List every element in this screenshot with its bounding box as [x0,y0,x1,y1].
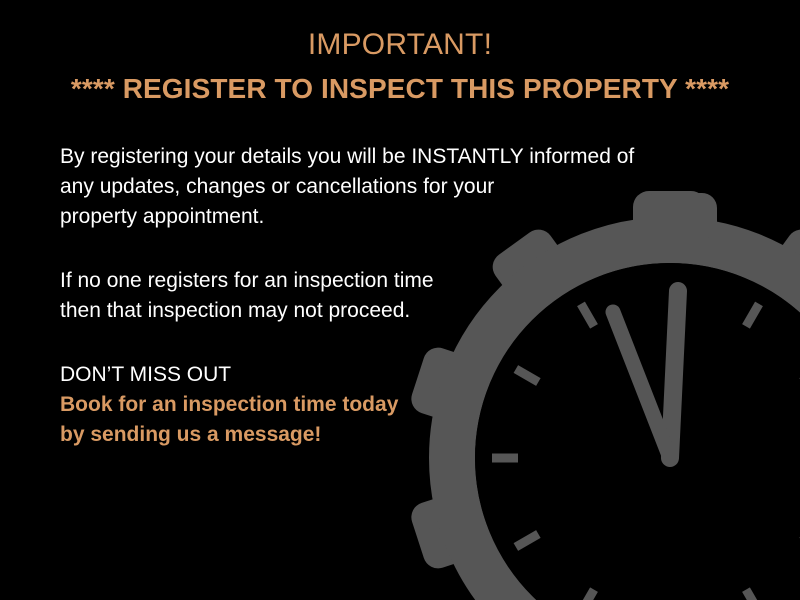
paragraph1-line1: By registering your details you will be … [60,142,720,172]
headline-block: IMPORTANT! **** REGISTER TO INSPECT THIS… [0,26,800,109]
paragraph-spacer-1 [60,232,720,266]
paragraph1-line2: any updates, changes or cancellations fo… [60,172,720,202]
body-copy-block: By registering your details you will be … [60,142,720,450]
slide-canvas: IMPORTANT! **** REGISTER TO INSPECT THIS… [0,0,800,600]
cta-send-message: by sending us a message! [60,420,720,450]
paragraph-no-registration-warning: If no one registers for an inspection ti… [60,266,720,326]
cta-dont-miss-out: DON’T MISS OUT [60,360,720,390]
paragraph2-line2: then that inspection may not proceed. [60,296,720,326]
headline-register-to-inspect: **** REGISTER TO INSPECT THIS PROPERTY *… [0,69,800,109]
cta-book-inspection: Book for an inspection time today [60,390,720,420]
paragraph2-line1: If no one registers for an inspection ti… [60,266,720,296]
paragraph-registering-benefits: By registering your details you will be … [60,142,720,232]
call-to-action-block: DON’T MISS OUT Book for an inspection ti… [60,360,720,450]
headline-important: IMPORTANT! [0,26,800,64]
paragraph1-line3: property appointment. [60,202,720,232]
paragraph-spacer-2 [60,326,720,360]
